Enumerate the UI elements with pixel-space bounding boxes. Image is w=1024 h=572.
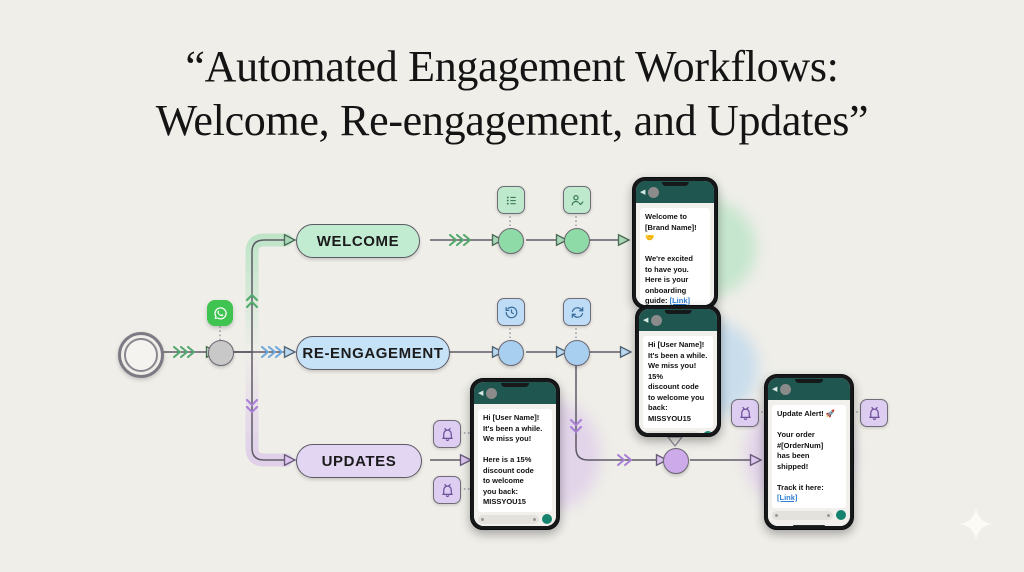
branch-pill-reengagement[interactable]: RE-ENGAGEMENT (296, 336, 450, 370)
sparkle-icon (958, 506, 994, 547)
phone-notch (795, 379, 823, 383)
history-icon[interactable] (497, 298, 525, 326)
bell-icon[interactable] (731, 399, 759, 427)
message-text: Welcome to [Brand Name]! 🤝 We're excited… (645, 212, 697, 305)
chat-body: Update Alert! 🚀 Your order #[OrderNum] h… (768, 400, 850, 508)
message-text: Hi [User Name]! It's been a while. We mi… (483, 413, 542, 506)
message-bubble: Welcome to [Brand Name]! 🤝 We're excited… (640, 208, 710, 305)
phone-updates-left[interactable]: ◀ Hi [User Name]! It's been a while. We … (470, 378, 560, 530)
chat-input[interactable] (478, 515, 539, 524)
phone-reengagement-screen: ◀ Hi [User Name]! It's been a while. We … (639, 309, 717, 433)
bell-icon[interactable] (433, 476, 461, 504)
plus-icon[interactable] (775, 514, 778, 517)
avatar (648, 187, 659, 198)
updates-step-node[interactable] (663, 448, 689, 474)
list-icon[interactable] (497, 186, 525, 214)
branch-pill-welcome-label: WELCOME (317, 233, 400, 250)
welcome-step-node-1[interactable] (498, 228, 524, 254)
send-icon[interactable] (703, 431, 713, 434)
send-icon[interactable] (836, 510, 846, 520)
message-link[interactable]: [Link] (670, 296, 690, 305)
phone-updates-right[interactable]: ◀ Update Alert! 🚀 Your order #[OrderNum]… (764, 374, 854, 530)
page-title: “Automated Engagement Workflows: Welcome… (0, 40, 1024, 148)
camera-icon[interactable] (533, 518, 536, 521)
phone-reengagement[interactable]: ◀ Hi [User Name]! It's been a while. We … (635, 305, 721, 437)
phone-updates-right-screen: ◀ Update Alert! 🚀 Your order #[OrderNum]… (768, 378, 850, 526)
reengagement-step-node-1[interactable] (498, 340, 524, 366)
message-text: Hi [User Name]! It's been a while. We mi… (648, 340, 707, 423)
camera-icon[interactable] (827, 514, 830, 517)
phone-notch (665, 310, 692, 314)
phone-updates-left-screen: ◀ Hi [User Name]! It's been a while. We … (474, 382, 556, 526)
chat-input-bar[interactable] (474, 512, 556, 527)
chat-body: Hi [User Name]! It's been a while. We mi… (474, 404, 556, 512)
welcome-step-node-2[interactable] (564, 228, 590, 254)
send-icon[interactable] (542, 514, 552, 524)
plus-icon[interactable] (481, 518, 484, 521)
bell-icon[interactable] (860, 399, 888, 427)
avatar (651, 315, 662, 326)
avatar (780, 384, 791, 395)
avatar (486, 388, 497, 399)
chat-input[interactable] (772, 511, 833, 520)
user-check-icon[interactable] (563, 186, 591, 214)
branch-pill-updates-label: UPDATES (322, 453, 397, 470)
branch-pill-reengagement-label: RE-ENGAGEMENT (302, 345, 443, 362)
back-icon[interactable]: ◀ (640, 189, 645, 196)
phone-welcome-screen: ◀ Welcome to [Brand Name]! 🤝 We're excit… (636, 181, 714, 305)
back-icon[interactable]: ◀ (643, 317, 648, 324)
message-bubble: Update Alert! 🚀 Your order #[OrderNum] h… (772, 405, 846, 508)
message-bubble: Hi [User Name]! It's been a while. We mi… (478, 409, 552, 512)
chat-input-bar[interactable] (639, 428, 717, 433)
sync-icon[interactable] (563, 298, 591, 326)
start-node[interactable] (118, 332, 164, 378)
bell-icon[interactable] (433, 420, 461, 448)
branch-node[interactable] (208, 340, 234, 366)
branch-pill-updates[interactable]: UPDATES (296, 444, 422, 478)
back-icon[interactable]: ◀ (772, 386, 777, 393)
message-bubble: Hi [User Name]! It's been a while. We mi… (643, 336, 713, 428)
phone-notch (501, 383, 529, 387)
phone-welcome[interactable]: ◀ Welcome to [Brand Name]! 🤝 We're excit… (632, 177, 718, 309)
message-text: Update Alert! 🚀 Your order #[OrderNum] h… (777, 409, 835, 492)
chat-input[interactable] (643, 431, 700, 433)
phone-notch (662, 182, 689, 186)
chat-input-bar[interactable] (768, 508, 850, 523)
reengagement-step-node-2[interactable] (564, 340, 590, 366)
branch-pill-welcome[interactable]: WELCOME (296, 224, 420, 258)
back-icon[interactable]: ◀ (478, 390, 483, 397)
chat-body: Welcome to [Brand Name]! 🤝 We're excited… (636, 203, 714, 305)
chat-body: Hi [User Name]! It's been a while. We mi… (639, 331, 717, 428)
message-link[interactable]: [Link] (777, 493, 797, 502)
whatsapp-icon[interactable] (207, 300, 233, 326)
home-indicator (768, 523, 850, 527)
